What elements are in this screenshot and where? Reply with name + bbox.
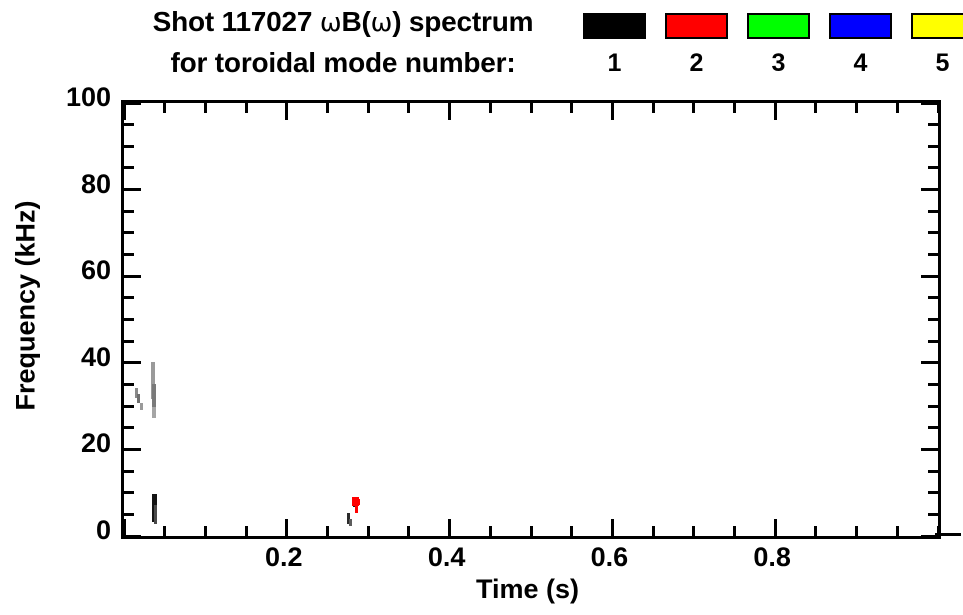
y-tick-right-100: [921, 102, 938, 105]
y-tick-label-40: 40: [1, 344, 111, 371]
x-tick-top-1: [937, 103, 940, 113]
legend-swatch-4: [829, 13, 892, 39]
x-tick-top-0.85: [814, 103, 817, 113]
omega-symbol-2: ω: [371, 8, 393, 38]
x-tick-top-0.1: [204, 103, 207, 113]
legend-swatch-2: [665, 13, 728, 39]
data-mark-mode-1: [137, 394, 140, 403]
x-tick-label-0.4: 0.4: [387, 544, 507, 571]
y-tick-right-70: [928, 231, 938, 234]
x-tick-bottom-0.35: [407, 526, 410, 536]
data-mark-mode-1: [154, 505, 157, 524]
x-tick-bottom-0.45: [489, 526, 492, 536]
legend-swatch-5: [911, 13, 963, 39]
y-tick-left-55: [124, 296, 134, 299]
x-tick-top-0.45: [489, 103, 492, 113]
legend-label-4: 4: [854, 51, 868, 76]
y-tick-right-75: [928, 210, 938, 213]
x-axis-rule-extension: [935, 533, 961, 536]
x-tick-top-0.95: [896, 103, 899, 113]
y-tick-left-15: [124, 470, 134, 473]
y-tick-left-30: [124, 405, 134, 408]
x-tick-bottom-0.95: [896, 526, 899, 536]
y-tick-left-60: [124, 275, 141, 278]
legend-label-1: 1: [608, 51, 622, 76]
x-tick-top-0.5: [530, 103, 533, 113]
title-shot-text: Shot 117027: [153, 6, 320, 37]
x-tick-top-0.9: [855, 103, 858, 113]
chart-title-line-1: Shot 117027 ωB(ω) spectrum: [108, 6, 578, 38]
x-axis-title-text: Time (s): [476, 574, 579, 604]
y-tick-right-40: [921, 361, 938, 364]
legend: 12345: [583, 13, 963, 76]
title-spectrum-text: ) spectrum: [392, 6, 533, 37]
x-tick-top-0.3: [367, 103, 370, 113]
y-tick-right-15: [928, 470, 938, 473]
legend-label-3: 3: [772, 51, 786, 76]
y-tick-right-65: [928, 253, 938, 256]
y-tick-left-65: [124, 253, 134, 256]
y-tick-right-10: [928, 491, 938, 494]
y-tick-label-80: 80: [1, 171, 111, 198]
y-tick-left-25: [124, 426, 134, 429]
legend-swatch-1: [583, 13, 646, 39]
x-tick-top-0.2: [285, 103, 288, 120]
y-tick-left-70: [124, 231, 134, 234]
x-tick-bottom-0.6: [611, 519, 614, 536]
x-tick-bottom-0.25: [326, 526, 329, 536]
y-tick-right-50: [928, 318, 938, 321]
x-tick-top-0.4: [448, 103, 451, 120]
y-tick-label-0: 0: [1, 517, 111, 544]
x-tick-bottom-0.8: [774, 519, 777, 536]
legend-item-3[interactable]: 3: [747, 13, 810, 76]
x-tick-bottom-0: [123, 519, 126, 536]
x-tick-top-0.65: [652, 103, 655, 113]
x-tick-top-0.25: [326, 103, 329, 113]
y-tick-label-100: 100: [1, 84, 111, 111]
y-tick-right-35: [928, 383, 938, 386]
y-tick-right-25: [928, 426, 938, 429]
y-tick-left-40: [124, 361, 141, 364]
x-tick-top-0.8: [774, 103, 777, 120]
x-tick-bottom-0.75: [733, 526, 736, 536]
x-tick-bottom-0.65: [652, 526, 655, 536]
x-tick-bottom-0.85: [814, 526, 817, 536]
y-tick-right-95: [928, 123, 938, 126]
y-tick-left-90: [124, 145, 134, 148]
x-tick-bottom-0.05: [163, 526, 166, 536]
y-tick-left-35: [124, 383, 134, 386]
y-tick-right-20: [921, 448, 938, 451]
x-tick-top-0.15: [245, 103, 248, 113]
y-tick-right-45: [928, 340, 938, 343]
y-tick-label-20: 20: [1, 430, 111, 457]
chart-title-line-2: for toroidal mode number:: [108, 47, 578, 79]
y-tick-left-20: [124, 448, 141, 451]
x-tick-top-0.75: [733, 103, 736, 113]
x-tick-bottom-0.55: [570, 526, 573, 536]
x-tick-top-0.6: [611, 103, 614, 120]
legend-label-2: 2: [690, 51, 704, 76]
x-tick-top-0.35: [407, 103, 410, 113]
x-tick-bottom-0.9: [855, 526, 858, 536]
y-tick-label-60: 60: [1, 257, 111, 284]
y-tick-left-75: [124, 210, 134, 213]
x-tick-bottom-0.15: [245, 526, 248, 536]
y-tick-right-30: [928, 405, 938, 408]
legend-item-4[interactable]: 4: [829, 13, 892, 76]
plot-data-canvas: [124, 103, 938, 536]
legend-item-1[interactable]: 1: [583, 13, 646, 76]
title-b-text: B(: [341, 6, 370, 37]
y-tick-left-80: [124, 188, 141, 191]
y-tick-right-85: [928, 166, 938, 169]
y-tick-left-50: [124, 318, 134, 321]
x-tick-bottom-0.3: [367, 526, 370, 536]
y-tick-left-85: [124, 166, 134, 169]
x-tick-label-0.6: 0.6: [549, 544, 669, 571]
y-tick-right-5: [928, 513, 938, 516]
x-tick-bottom-0.5: [530, 526, 533, 536]
plot-frame: [121, 100, 941, 539]
y-tick-right-60: [921, 275, 938, 278]
omega-symbol-1: ω: [320, 8, 342, 38]
spectrum-plot-figure: Shot 117027 ωB(ω) spectrum for toroidal …: [0, 0, 963, 615]
legend-item-5[interactable]: 5: [911, 13, 963, 76]
legend-swatch-3: [747, 13, 810, 39]
x-tick-top-0.05: [163, 103, 166, 113]
y-tick-left-0: [124, 535, 141, 538]
data-mark-mode-1: [140, 403, 143, 410]
y-tick-left-5: [124, 513, 134, 516]
x-tick-top-0.55: [570, 103, 573, 113]
y-tick-right-80: [921, 188, 938, 191]
data-mark-mode-2: [357, 499, 360, 505]
legend-item-2[interactable]: 2: [665, 13, 728, 76]
y-tick-left-10: [124, 491, 134, 494]
data-mark-mode-1: [152, 407, 155, 418]
x-tick-top-0.7: [692, 103, 695, 113]
y-tick-right-55: [928, 296, 938, 299]
x-tick-label-0.2: 0.2: [224, 544, 344, 571]
x-tick-label-0.8: 0.8: [712, 544, 832, 571]
y-tick-left-45: [124, 340, 134, 343]
x-tick-bottom-0.2: [285, 519, 288, 536]
y-tick-right-90: [928, 145, 938, 148]
x-axis-title: Time (s): [0, 574, 963, 605]
x-tick-bottom-0.7: [692, 526, 695, 536]
data-mark-mode-1: [349, 519, 351, 526]
x-tick-bottom-0.4: [448, 519, 451, 536]
legend-label-5: 5: [936, 51, 950, 76]
y-tick-left-100: [124, 102, 141, 105]
y-tick-left-95: [124, 123, 134, 126]
x-tick-top-0: [123, 103, 126, 120]
x-tick-bottom-0.1: [204, 526, 207, 536]
